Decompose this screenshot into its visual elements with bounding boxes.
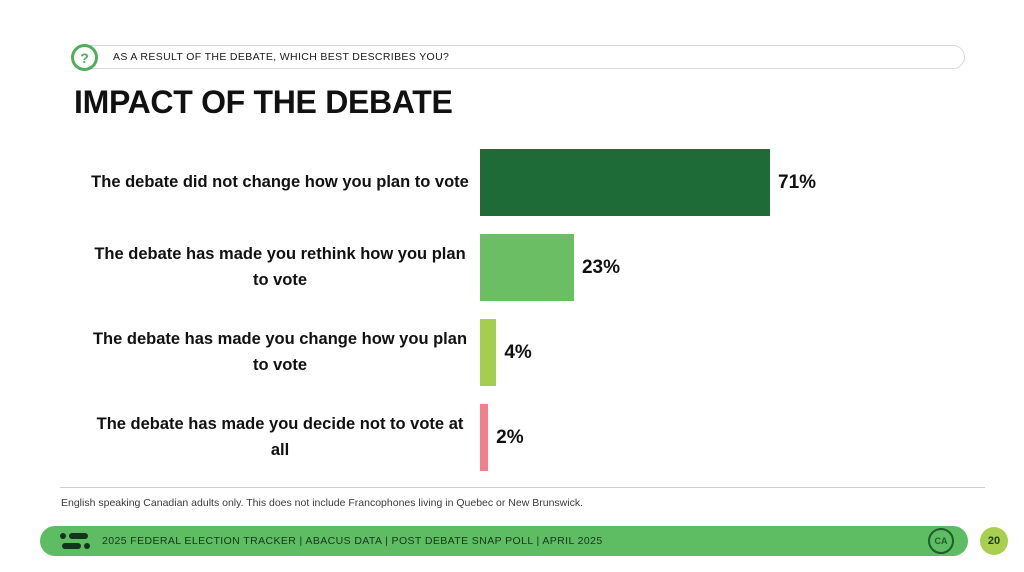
bar-category-label: The debate has made you rethink how you …	[90, 225, 470, 310]
bar	[480, 404, 488, 471]
bar-category-label: The debate has made you change how you p…	[90, 310, 470, 395]
chart-row: The debate has made you change how you p…	[0, 310, 1024, 395]
bar-category-label: The debate has made you decide not to vo…	[90, 395, 470, 480]
chart-row: The debate did not change how you plan t…	[0, 140, 1024, 225]
question-banner: ? AS A RESULT OF THE DEBATE, WHICH BEST …	[78, 45, 965, 69]
footer-text: 2025 FEDERAL ELECTION TRACKER | ABACUS D…	[102, 535, 603, 547]
bar	[480, 234, 574, 301]
page-number-badge: 20	[980, 527, 1008, 555]
question-text: AS A RESULT OF THE DEBATE, WHICH BEST DE…	[113, 51, 449, 63]
slide: ? AS A RESULT OF THE DEBATE, WHICH BEST …	[0, 0, 1024, 572]
bar	[480, 149, 770, 216]
footnote-divider	[60, 487, 985, 488]
bar-group: 23%	[480, 225, 620, 310]
bar-value-label: 23%	[582, 257, 620, 279]
bar-category-label: The debate did not change how you plan t…	[90, 140, 470, 225]
chart-row: The debate has made you rethink how you …	[0, 225, 1024, 310]
footer-bar: 2025 FEDERAL ELECTION TRACKER | ABACUS D…	[40, 526, 968, 556]
page-title: IMPACT OF THE DEBATE	[74, 84, 453, 121]
chart-row: The debate has made you decide not to vo…	[0, 395, 1024, 480]
bar-group: 4%	[480, 310, 532, 395]
footnote-text: English speaking Canadian adults only. T…	[61, 497, 583, 509]
bar-value-label: 4%	[504, 342, 531, 364]
bar-value-label: 71%	[778, 172, 816, 194]
abacus-circle-logo-icon: CA	[928, 528, 954, 554]
bar-chart: The debate did not change how you plan t…	[0, 140, 1024, 480]
bar-value-label: 2%	[496, 427, 523, 449]
bar-group: 71%	[480, 140, 816, 225]
bar-group: 2%	[480, 395, 524, 480]
question-mark-icon: ?	[71, 44, 98, 71]
abacus-data-logo-icon	[60, 532, 90, 551]
bar	[480, 319, 496, 386]
